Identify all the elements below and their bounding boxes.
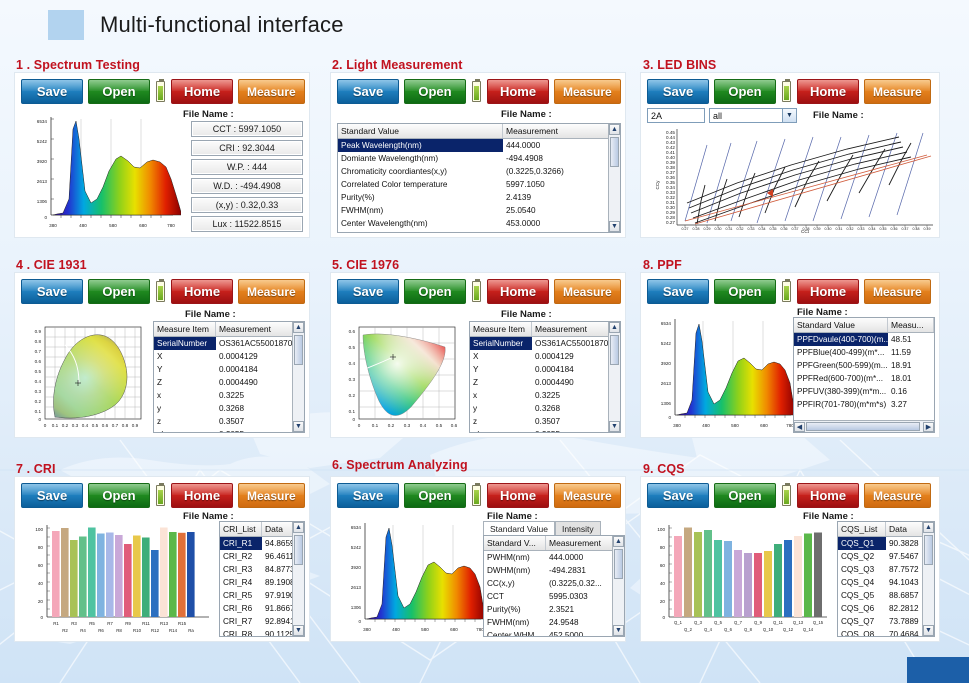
- bin-input[interactable]: 2A: [647, 108, 705, 123]
- column-measure-item: Measure Item: [470, 322, 532, 336]
- header-swatch-icon: [48, 10, 84, 40]
- table-header: Standard V... Measurement: [484, 536, 624, 551]
- table-row[interactable]: z0.3507: [470, 415, 620, 428]
- svg-text:0.4: 0.4: [420, 423, 427, 428]
- cell-label: CRI_R4: [220, 576, 262, 589]
- save-button[interactable]: Save: [647, 279, 709, 304]
- column-measurement: Measurement: [532, 322, 620, 336]
- open-button[interactable]: Open: [714, 483, 776, 508]
- svg-text:380: 380: [49, 223, 57, 228]
- vertical-scrollbar[interactable]: ▲ ▼: [612, 536, 624, 636]
- svg-text:0: 0: [668, 415, 671, 420]
- table-row[interactable]: FWHM(nm)25.0540: [338, 204, 620, 217]
- scroll-up-icon[interactable]: ▲: [923, 522, 934, 533]
- home-button[interactable]: Home: [171, 279, 233, 304]
- cell-value: 444.0000: [503, 139, 620, 152]
- measure-button[interactable]: Measure: [864, 483, 931, 508]
- svg-text:580: 580: [731, 423, 739, 428]
- panel-spectrum-testing: Save Open Home Measure File Name : 65345…: [14, 72, 310, 238]
- result-xy[interactable]: (x,y) : 0.32,0.33: [191, 197, 303, 213]
- cell-value: 18.91: [888, 359, 934, 372]
- cell-value: 0.0004129: [532, 350, 620, 363]
- table-row[interactable]: PPFUV(380-399)(m*m...0.16: [794, 385, 934, 398]
- vertical-scrollbar[interactable]: ▲ ▼: [608, 322, 620, 432]
- ppf-table[interactable]: Standard Value Measu... PPFDvaule(400-70…: [793, 317, 935, 433]
- cell-label: CC(x,y): [484, 577, 546, 590]
- svg-text:R6: R6: [98, 628, 104, 633]
- svg-text:Q_1: Q_1: [674, 620, 683, 625]
- cell-label: PPFUV(380-399)(m*m...: [794, 385, 888, 398]
- table-row[interactable]: Domiante Wavelength(nm)-494.4908: [338, 152, 620, 165]
- table-body: PPFDvaule(400-700)(m...48.51 PPFBlue(400…: [794, 333, 934, 432]
- scroll-up-icon[interactable]: ▲: [609, 322, 620, 333]
- toolbar-light-measurement: Save Open Home Measure: [331, 73, 625, 104]
- svg-text:5242: 5242: [37, 139, 48, 144]
- column-cri-list: CRI_List: [220, 522, 262, 536]
- home-button[interactable]: Home: [171, 79, 233, 104]
- svg-text:1306: 1306: [37, 199, 48, 204]
- table-row[interactable]: y0.3268: [470, 402, 620, 415]
- scroll-up-icon[interactable]: ▲: [609, 124, 620, 135]
- tab-intensity[interactable]: Intensity: [555, 521, 601, 535]
- cell-value: 0.3225: [216, 389, 304, 402]
- vertical-scrollbar[interactable]: ▲ ▼: [292, 322, 304, 432]
- svg-text:Q_12: Q_12: [783, 627, 794, 632]
- ppf-chart: 653452423920 261313060 380480580 680780: [645, 313, 795, 433]
- cell-label: CRI_R6: [220, 602, 262, 615]
- svg-text:0.7: 0.7: [112, 423, 119, 428]
- panel-light-measurement: Save Open Home Measure File Name : Stand…: [330, 72, 626, 238]
- table-row[interactable]: Z0.0004490: [154, 376, 304, 389]
- svg-text:0.45: 0.45: [880, 227, 887, 231]
- cell-label: FWHM(nm): [484, 616, 546, 629]
- table-header: Measure Item Measurement: [470, 322, 620, 337]
- cie-1931-chart: 0.90.80.7 0.60.50.4 0.30.20.1 0: [21, 321, 147, 433]
- save-button[interactable]: Save: [647, 483, 709, 508]
- cell-label: Correlated Color temperature: [338, 178, 503, 191]
- svg-text:0: 0: [358, 619, 361, 624]
- svg-text:0: 0: [662, 615, 665, 620]
- toolbar-cqs: Save Open Home Measure: [641, 477, 939, 508]
- tab-standard-value[interactable]: Standard Value: [483, 521, 555, 535]
- cell-label: Purity(%): [484, 603, 546, 616]
- measure-button[interactable]: Measure: [238, 483, 305, 508]
- save-button[interactable]: Save: [337, 79, 399, 104]
- scrollbar-thumb[interactable]: [806, 422, 920, 431]
- save-button[interactable]: Save: [337, 279, 399, 304]
- table-row[interactable]: Correlated Color temperature5997.1050: [338, 178, 620, 191]
- scroll-left-icon[interactable]: ◀: [794, 422, 805, 432]
- cell-value: OS361AC55001870: [532, 337, 620, 350]
- file-name-label: File Name :: [501, 309, 552, 320]
- column-standard-value: Standard Value: [794, 318, 888, 332]
- svg-text:Q_3: Q_3: [694, 620, 703, 625]
- cell-value: 48.51: [888, 333, 934, 346]
- table-row[interactable]: Y0.0004184: [470, 363, 620, 376]
- table-row[interactable]: CQS_Q297.5467: [838, 550, 934, 563]
- svg-text:0.8: 0.8: [122, 423, 129, 428]
- open-button[interactable]: Open: [404, 483, 466, 508]
- column-standard-value: Standard V...: [484, 536, 546, 550]
- table-row[interactable]: Centroid Wavelength(nm)452.2573: [338, 230, 620, 232]
- svg-text:0.44: 0.44: [869, 227, 876, 231]
- light-measurement-table[interactable]: Standard Value Measurement Peak Waveleng…: [337, 123, 621, 233]
- cri-table[interactable]: CRI_List Data CRI_R194.8659 CRI_R296.461…: [219, 521, 305, 637]
- x-axis-label: CCt: [801, 229, 810, 233]
- scroll-down-icon[interactable]: ▼: [293, 421, 304, 432]
- svg-text:380: 380: [673, 423, 681, 428]
- open-button[interactable]: Open: [88, 79, 150, 104]
- svg-text:0.28: 0.28: [693, 227, 700, 231]
- scroll-up-icon[interactable]: ▲: [613, 536, 624, 547]
- open-button[interactable]: Open: [714, 279, 776, 304]
- save-button[interactable]: Save: [21, 79, 83, 104]
- svg-text:100: 100: [35, 527, 43, 532]
- cell-label: CRI_R5: [220, 589, 262, 602]
- svg-text:0.3: 0.3: [404, 423, 411, 428]
- svg-text:Q_9: Q_9: [754, 620, 763, 625]
- svg-text:Q_14: Q_14: [803, 627, 814, 632]
- table-row[interactable]: x0.3225: [470, 389, 620, 402]
- cell-label: SerialNumber: [470, 337, 532, 350]
- cell-label: u': [470, 428, 532, 432]
- svg-text:0.34: 0.34: [759, 227, 766, 231]
- column-measure-item: Measure Item: [154, 322, 216, 336]
- file-name-label: File Name :: [813, 110, 864, 121]
- svg-text:R4: R4: [80, 628, 86, 633]
- table-row[interactable]: Y0.0004184: [154, 363, 304, 376]
- table-row[interactable]: PPFIR(701-780)(m*m*s)3.27: [794, 398, 934, 411]
- svg-text:0.48: 0.48: [913, 227, 920, 231]
- cell-value: 5997.1050: [503, 178, 620, 191]
- svg-text:Q_8: Q_8: [744, 627, 753, 632]
- svg-text:380: 380: [363, 627, 371, 632]
- spectrum-analyzing-tabs[interactable]: Standard Value Intensity: [483, 521, 601, 535]
- led-bins-chart: 0.450.440.43 0.420.410.40 0.390.380.37 0…: [645, 125, 937, 233]
- table-row[interactable]: CQS_Q190.3828: [838, 537, 934, 550]
- cell-label: CRI_R8: [220, 628, 262, 636]
- panel-title-led-bins: 3. LED BINS: [643, 58, 716, 72]
- table-row[interactable]: CQS_Q682.2812: [838, 602, 934, 615]
- table-row[interactable]: PWHM(nm)444.0000: [484, 551, 624, 564]
- scrollbar-thumb[interactable]: [610, 335, 619, 365]
- cell-label: CQS_Q4: [838, 576, 886, 589]
- svg-text:0.2: 0.2: [349, 393, 356, 398]
- cell-value: 0.0004490: [532, 376, 620, 389]
- bin-filter-value: all: [713, 111, 722, 121]
- table-row[interactable]: CQS_Q494.1043: [838, 576, 934, 589]
- home-button[interactable]: Home: [797, 79, 859, 104]
- battery-icon: [782, 485, 791, 506]
- svg-text:0.6: 0.6: [451, 423, 458, 428]
- panel-cie-1976: Save Open Home Measure File Name :: [330, 272, 626, 438]
- svg-text:Q_10: Q_10: [763, 627, 774, 632]
- spectrum-analyzing-table[interactable]: Standard V... Measurement PWHM(nm)444.00…: [483, 535, 625, 637]
- vertical-scrollbar[interactable]: ▲ ▼: [608, 124, 620, 232]
- cell-value: 0.3268: [216, 402, 304, 415]
- file-name-label: File Name :: [501, 109, 552, 120]
- svg-text:60: 60: [660, 563, 666, 568]
- cell-label: Chromaticity coordiantes(x,y): [338, 165, 503, 178]
- cell-label: u': [154, 428, 216, 432]
- svg-text:580: 580: [421, 627, 429, 632]
- table-row[interactable]: z0.3507: [154, 415, 304, 428]
- svg-text:100: 100: [657, 527, 665, 532]
- panel-title-light-measurement: 2. Light Measurement: [332, 58, 463, 72]
- svg-text:0: 0: [44, 423, 47, 428]
- cell-label: Z: [154, 376, 216, 389]
- table-row[interactable]: Chromaticity coordiantes(x,y)(0.3225,0.3…: [338, 165, 620, 178]
- column-measurement: Measurement: [503, 124, 620, 138]
- svg-text:0.39: 0.39: [814, 227, 821, 231]
- open-button[interactable]: Open: [404, 79, 466, 104]
- cell-value: OS361AC55001870: [216, 337, 304, 350]
- svg-text:0.8: 0.8: [35, 339, 42, 344]
- table-body: SerialNumberOS361AC55001870 X0.0004129 Y…: [470, 337, 620, 432]
- svg-text:0.41: 0.41: [836, 227, 843, 231]
- panel-title-spectrum-analyzing: 6. Spectrum Analyzing: [332, 458, 468, 472]
- table-row[interactable]: PPFRed(600-700)(m*...18.01: [794, 372, 934, 385]
- cell-value: 0.0004490: [216, 376, 304, 389]
- home-button[interactable]: Home: [171, 483, 233, 508]
- svg-text:0.1: 0.1: [35, 409, 42, 414]
- save-button[interactable]: Save: [21, 279, 83, 304]
- scroll-down-icon[interactable]: ▼: [923, 625, 934, 636]
- table-row[interactable]: u'0.2055: [154, 428, 304, 432]
- panel-title-cri: 7 . CRI: [16, 462, 56, 476]
- cell-label: CQS_Q2: [838, 550, 886, 563]
- cell-label: CQS_Q8: [838, 628, 886, 636]
- svg-text:0.1: 0.1: [372, 423, 379, 428]
- measure-button[interactable]: Measure: [554, 483, 621, 508]
- table-row[interactable]: Purity(%)2.4139: [338, 191, 620, 204]
- svg-text:0.5: 0.5: [436, 423, 443, 428]
- page-root: Multi-functional interface 1 . Spectrum …: [0, 0, 969, 683]
- cri-chart: 1008060 40200: [19, 519, 215, 637]
- measure-button[interactable]: Measure: [864, 279, 931, 304]
- home-button[interactable]: Home: [487, 279, 549, 304]
- table-row[interactable]: x0.3225: [154, 389, 304, 402]
- cell-label: x: [470, 389, 532, 402]
- cell-value: 0.2055: [532, 428, 620, 432]
- toolbar-led-bins: Save Open Home Measure: [641, 73, 939, 104]
- table-row[interactable]: CC(x,y)(0.3225,0.32...: [484, 577, 624, 590]
- table-row[interactable]: PPFGreen(500-599)(m...18.91: [794, 359, 934, 372]
- cell-value: 0.16: [888, 385, 934, 398]
- svg-text:R10: R10: [133, 628, 142, 633]
- svg-text:R2: R2: [62, 628, 68, 633]
- cell-value: 3.27: [888, 398, 934, 411]
- svg-text:0.43: 0.43: [858, 227, 865, 231]
- home-button[interactable]: Home: [797, 279, 859, 304]
- measure-button[interactable]: Measure: [238, 79, 305, 104]
- svg-text:780: 780: [167, 223, 175, 228]
- horizontal-scrollbar[interactable]: ◀ ▶: [794, 420, 934, 432]
- svg-text:0.49: 0.49: [924, 227, 931, 231]
- cell-value: 18.01: [888, 372, 934, 385]
- home-button[interactable]: Home: [487, 79, 549, 104]
- svg-text:580: 580: [109, 223, 117, 228]
- svg-text:0.31: 0.31: [726, 227, 733, 231]
- scrollbar-thumb[interactable]: [294, 335, 303, 365]
- cell-label: Centroid Wavelength(nm): [338, 230, 503, 232]
- scroll-right-icon[interactable]: ▶: [923, 422, 934, 432]
- table-row[interactable]: SerialNumberOS361AC55001870: [154, 337, 304, 350]
- svg-text:0.36: 0.36: [781, 227, 788, 231]
- svg-text:Q_7: Q_7: [734, 620, 743, 625]
- svg-text:R7: R7: [107, 621, 113, 626]
- svg-text:Q_5: Q_5: [714, 620, 723, 625]
- svg-text:0.6: 0.6: [102, 423, 109, 428]
- battery-icon: [782, 81, 791, 102]
- vertical-scrollbar[interactable]: ▲ ▼: [922, 522, 934, 636]
- scrollbar-thumb[interactable]: [924, 535, 933, 565]
- table-row[interactable]: PPFBlue(400-499)(m*...11.59: [794, 346, 934, 359]
- svg-text:0.6: 0.6: [349, 329, 356, 334]
- cell-label: PPFDvaule(400-700)(m...: [794, 333, 888, 346]
- cell-label: Purity(%): [338, 191, 503, 204]
- table-row[interactable]: X0.0004129: [154, 350, 304, 363]
- table-row[interactable]: Center Wavelength(nm)453.0000: [338, 217, 620, 230]
- svg-text:Q_6: Q_6: [724, 627, 733, 632]
- cell-label: PPFIR(701-780)(m*m*s): [794, 398, 888, 411]
- home-button[interactable]: Home: [487, 483, 549, 508]
- cell-label: Y: [470, 363, 532, 376]
- scroll-down-icon[interactable]: ▼: [613, 625, 624, 636]
- scroll-down-icon[interactable]: ▼: [293, 625, 304, 636]
- svg-text:0: 0: [38, 417, 41, 422]
- table-row[interactable]: Purity(%)2.3521: [484, 603, 624, 616]
- table-row[interactable]: CQS_Q387.7572: [838, 563, 934, 576]
- svg-text:80: 80: [660, 545, 666, 550]
- open-button[interactable]: Open: [714, 79, 776, 104]
- panel-title-cie-1976: 5. CIE 1976: [332, 258, 399, 272]
- cie-1976-table[interactable]: Measure Item Measurement SerialNumberOS3…: [469, 321, 621, 433]
- cell-label: X: [470, 350, 532, 363]
- cell-label: CCT: [484, 590, 546, 603]
- svg-text:Q_4: Q_4: [704, 627, 713, 632]
- svg-text:0.32: 0.32: [737, 227, 744, 231]
- measure-button[interactable]: Measure: [238, 279, 305, 304]
- panel-title-cqs: 9. CQS: [643, 462, 685, 476]
- table-row[interactable]: CQS_Q870.4684: [838, 628, 934, 636]
- scrollbar-thumb[interactable]: [610, 137, 619, 167]
- svg-text:680: 680: [450, 627, 458, 632]
- cqs-chart: 1008060 40200: [643, 519, 833, 637]
- table-row[interactable]: Center WHM...452.5000: [484, 629, 624, 636]
- svg-text:0.27: 0.27: [666, 220, 675, 225]
- svg-text:Q_11: Q_11: [773, 620, 784, 625]
- scroll-down-icon[interactable]: ▼: [609, 221, 620, 232]
- save-button[interactable]: Save: [21, 483, 83, 508]
- svg-text:40: 40: [660, 581, 666, 586]
- scroll-down-icon[interactable]: ▼: [609, 421, 620, 432]
- svg-text:0.6: 0.6: [35, 359, 42, 364]
- scrollbar-thumb[interactable]: [294, 535, 303, 565]
- save-button[interactable]: Save: [647, 79, 709, 104]
- vertical-scrollbar[interactable]: ▲ ▼: [292, 522, 304, 636]
- cell-label: CRI_R1: [220, 537, 262, 550]
- scroll-up-icon[interactable]: ▲: [293, 522, 304, 533]
- table-row[interactable]: PPFDvaule(400-700)(m...48.51: [794, 333, 934, 346]
- table-row[interactable]: DWHM(nm)-494.2831: [484, 564, 624, 577]
- table-row[interactable]: Peak Wavelength(nm)444.0000: [338, 139, 620, 152]
- svg-text:480: 480: [79, 223, 87, 228]
- table-row[interactable]: u'0.2055: [470, 428, 620, 432]
- scrollbar-thumb[interactable]: [614, 549, 623, 579]
- cie-1931-table[interactable]: Measure Item Measurement SerialNumberOS3…: [153, 321, 305, 433]
- table-row[interactable]: CQS_Q773.7889: [838, 615, 934, 628]
- column-cqs-list: CQS_List: [838, 522, 886, 536]
- file-name-label: File Name :: [185, 309, 236, 320]
- result-wp[interactable]: W.P. : 444: [191, 159, 303, 175]
- cqs-table[interactable]: CQS_List Data CQS_Q190.3828 CQS_Q297.546…: [837, 521, 935, 637]
- result-cri[interactable]: CRI : 92.3044: [191, 140, 303, 156]
- svg-text:R14: R14: [169, 628, 178, 633]
- cell-value: 0.0004129: [216, 350, 304, 363]
- measure-button[interactable]: Measure: [554, 279, 621, 304]
- svg-text:0.2: 0.2: [62, 423, 69, 428]
- save-button[interactable]: Save: [337, 483, 399, 508]
- open-button[interactable]: Open: [404, 279, 466, 304]
- open-button[interactable]: Open: [88, 483, 150, 508]
- cell-label: CQS_Q3: [838, 563, 886, 576]
- chevron-down-icon[interactable]: ▼: [782, 109, 796, 122]
- panel-led-bins: Save Open Home Measure 2A all ▼ File Nam…: [640, 72, 940, 238]
- scroll-up-icon[interactable]: ▲: [293, 322, 304, 333]
- svg-text:Q_13: Q_13: [793, 620, 804, 625]
- cell-label: PWHM(nm): [484, 551, 546, 564]
- cell-value: (0.3225,0.3266): [503, 165, 620, 178]
- cell-value: 0.2055: [216, 428, 304, 432]
- measure-button[interactable]: Measure: [554, 79, 621, 104]
- table-row[interactable]: CCT5995.0303: [484, 590, 624, 603]
- table-row[interactable]: Z0.0004490: [470, 376, 620, 389]
- svg-text:0.33: 0.33: [748, 227, 755, 231]
- result-wd[interactable]: W.D. : -494.4908: [191, 178, 303, 194]
- column-measurement: Measu...: [888, 318, 934, 332]
- cell-label: CQS_Q7: [838, 615, 886, 628]
- toolbar-cri: Save Open Home Measure: [15, 477, 309, 508]
- table-row[interactable]: SerialNumberOS361AC55001870: [470, 337, 620, 350]
- result-cct[interactable]: CCT : 5997.1050: [191, 121, 303, 137]
- file-name-label: File Name :: [183, 109, 234, 120]
- table-row[interactable]: FWHM(nm)24.9548: [484, 616, 624, 629]
- table-header: CQS_List Data: [838, 522, 934, 537]
- table-row[interactable]: X0.0004129: [470, 350, 620, 363]
- toolbar-cie-1976: Save Open Home Measure: [331, 273, 625, 304]
- cell-value: 11.59: [888, 346, 934, 359]
- table-row[interactable]: CQS_Q588.6857: [838, 589, 934, 602]
- table-row[interactable]: y0.3268: [154, 402, 304, 415]
- cell-value: 0.3268: [532, 402, 620, 415]
- svg-text:0.2: 0.2: [35, 399, 42, 404]
- svg-text:Q_15: Q_15: [813, 620, 824, 625]
- home-button[interactable]: Home: [797, 483, 859, 508]
- open-button[interactable]: Open: [88, 279, 150, 304]
- svg-text:0.5: 0.5: [349, 345, 356, 350]
- cell-value: 0.3225: [532, 389, 620, 402]
- cell-value: 0.0004184: [216, 363, 304, 376]
- cell-label: PPFRed(600-700)(m*...: [794, 372, 888, 385]
- cell-label: CQS_Q6: [838, 602, 886, 615]
- bin-filter-dropdown[interactable]: all ▼: [709, 108, 797, 123]
- svg-text:2613: 2613: [37, 179, 48, 184]
- table-body: Peak Wavelength(nm)444.0000 Domiante Wav…: [338, 139, 620, 232]
- result-lux[interactable]: Lux : 11522.8515: [191, 216, 303, 232]
- measure-button[interactable]: Measure: [864, 79, 931, 104]
- svg-text:0.9: 0.9: [132, 423, 139, 428]
